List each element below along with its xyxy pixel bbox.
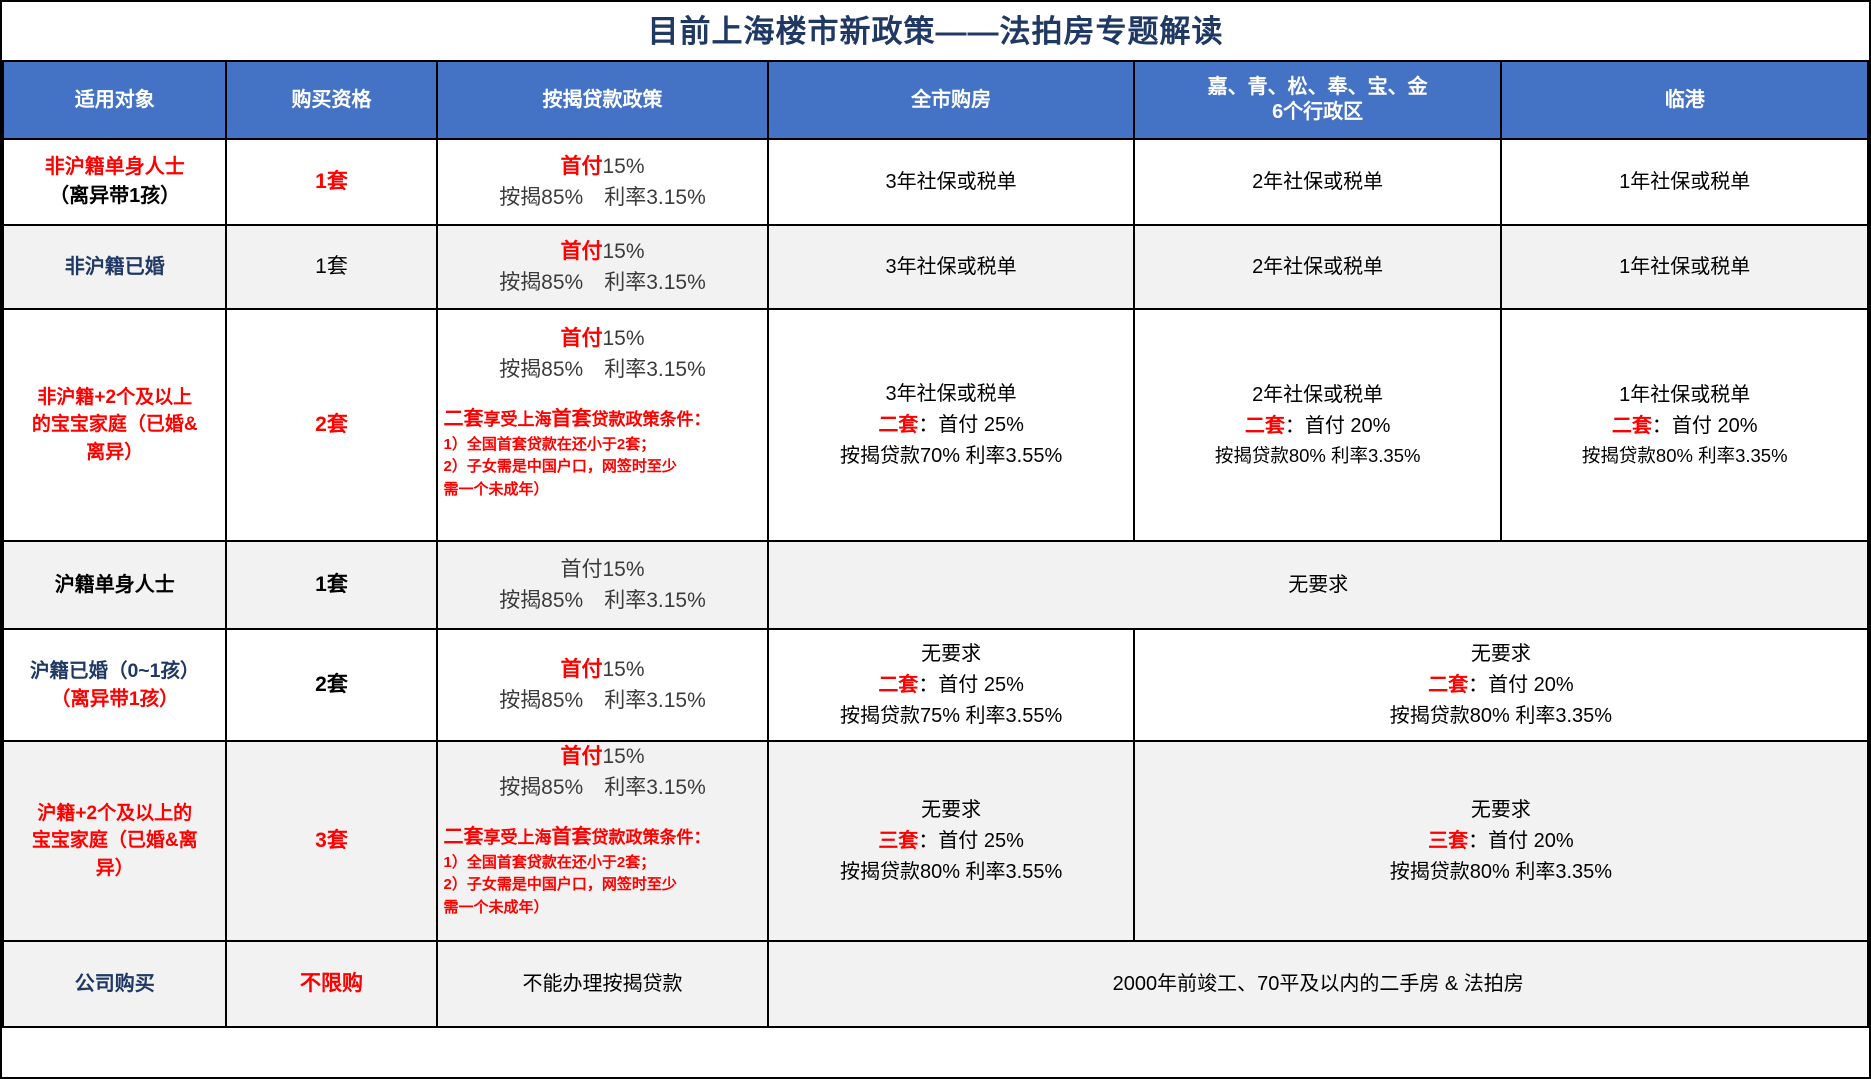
cell-loan: 不能办理按揭贷款: [437, 941, 769, 1027]
object-line3: 异）: [10, 855, 219, 883]
table-row: 非沪籍单身人士 （离异带1孩） 1套 首付15% 按揭85% 利率3.15% 3…: [3, 139, 1868, 225]
lingang-line3: 按揭贷款80% 利率3.35%: [1508, 442, 1861, 471]
citywide-line1: 无要求: [775, 639, 1126, 670]
cell-loan: 首付15% 按揭85% 利率3.15%: [437, 629, 769, 741]
condition-title-a: 二套: [444, 408, 484, 430]
citywide-line1: 3年社保或税单: [775, 252, 1126, 283]
cell-qualification: 3套: [226, 741, 436, 941]
condition-title-c: 首套: [552, 826, 592, 848]
lingang-line1: 1年社保或税单: [1508, 167, 1861, 198]
loan-mortgage: 按揭85% 利率3.15%: [444, 685, 762, 717]
citywide-line2: 二套：首付 25%: [775, 670, 1126, 701]
condition-title-a: 二套: [444, 826, 484, 848]
six-districts-line2: 6个行政区: [1141, 100, 1495, 125]
loan-downpayment: 首付15%: [444, 236, 762, 268]
cell-lingang: 1年社保或税单 二套：首付 20% 按揭贷款80% 利率3.35%: [1501, 309, 1868, 541]
loan-conditions: 二套享受上海首套贷款政策条件： 1）全国首套贷款在还小于2套； 2）子女需是中国…: [444, 404, 762, 502]
condition-title-d: 贷款政策条件：: [592, 410, 711, 429]
qualification-value: 2套: [315, 673, 348, 696]
object-line1: 公司购买: [10, 970, 219, 999]
citywide-line1: 3年社保或税单: [775, 379, 1126, 410]
object-line1: 非沪籍已婚: [10, 253, 219, 282]
cell-citywide: 3年社保或税单: [768, 139, 1133, 225]
cell-citywide: 3年社保或税单: [768, 225, 1133, 309]
cell-qualification: 1套: [226, 541, 436, 629]
qualification-value: 3套: [315, 829, 348, 852]
cell-merged-six-lingang: 无要求 三套：首付 20% 按揭贷款80% 利率3.35%: [1134, 741, 1868, 941]
object-line2: 宝宝家庭（已婚&离: [10, 827, 219, 855]
six-districts-line1: 嘉、青、松、奉、宝、金: [1141, 75, 1495, 100]
cell-qualification: 1套: [226, 139, 436, 225]
loan-mortgage: 按揭85% 利率3.15%: [444, 585, 762, 617]
loan-summary: 首付15% 按揭85% 利率3.15%: [444, 323, 762, 386]
policy-table: 适用对象 购买资格 按揭贷款政策 全市购房 嘉、青、松、奉、宝、金 6个行政区 …: [2, 60, 1869, 1028]
cell-merged-six-lingang: 无要求 二套：首付 20% 按揭贷款80% 利率3.35%: [1134, 629, 1868, 741]
lingang-line2: 二套：首付 20%: [1508, 411, 1861, 442]
downpayment-label: 首付: [560, 240, 602, 263]
citywide-tag-rest: ：首付 25%: [918, 414, 1024, 436]
qualification-value: 不限购: [300, 972, 363, 995]
citywide-tag: 二套: [878, 414, 918, 436]
cell-merged-requirement: 2000年前竣工、70平及以内的二手房 & 法拍房: [768, 941, 1868, 1027]
downpayment-label: 首付: [560, 558, 602, 581]
six-districts-line2: 二套：首付 20%: [1141, 411, 1495, 442]
column-header-lingang: 临港: [1501, 61, 1868, 139]
cell-citywide: 3年社保或税单 二套：首付 25% 按揭贷款70% 利率3.55%: [768, 309, 1133, 541]
object-line1: 非沪籍+2个及以上: [10, 384, 219, 412]
lingang-line1: 1年社保或税单: [1508, 252, 1861, 283]
citywide-line3: 按揭贷款80% 利率3.55%: [775, 857, 1126, 888]
cell-object: 沪籍+2个及以上的 宝宝家庭（已婚&离 异）: [3, 741, 226, 941]
cell-citywide: 无要求 三套：首付 25% 按揭贷款80% 利率3.55%: [768, 741, 1133, 941]
merged-line3: 按揭贷款80% 利率3.35%: [1141, 857, 1861, 888]
merged-line2: 二套：首付 20%: [1141, 670, 1861, 701]
six-districts-tag: 二套: [1245, 415, 1285, 437]
header-row: 适用对象 购买资格 按揭贷款政策 全市购房 嘉、青、松、奉、宝、金 6个行政区 …: [3, 61, 1868, 139]
cell-six-districts: 2年社保或税单 二套：首付 20% 按揭贷款80% 利率3.35%: [1134, 309, 1502, 541]
six-districts-tag-rest: ：首付 20%: [1285, 415, 1391, 437]
downpayment-value: 15%: [602, 155, 644, 178]
cell-lingang: 1年社保或税单: [1501, 225, 1868, 309]
object-line3: 离异）: [10, 439, 219, 467]
cell-object: 非沪籍单身人士 （离异带1孩）: [3, 139, 226, 225]
cell-object: 公司购买: [3, 941, 226, 1027]
cell-object: 沪籍单身人士: [3, 541, 226, 629]
downpayment-value: 15%: [602, 558, 644, 581]
cell-merged-requirement: 无要求: [768, 541, 1868, 629]
qualification-value: 1套: [315, 170, 348, 193]
cell-six-districts: 2年社保或税单: [1134, 139, 1502, 225]
cell-loan: 首付15% 按揭85% 利率3.15% 二套享受上海首套贷款政策条件： 1）全国…: [437, 309, 769, 541]
citywide-line3: 按揭贷款75% 利率3.55%: [775, 701, 1126, 732]
condition-title: 二套享受上海首套贷款政策条件：: [444, 822, 762, 852]
downpayment-label: 首付: [560, 745, 602, 768]
loan-mortgage: 按揭85% 利率3.15%: [444, 772, 762, 804]
cell-qualification: 不限购: [226, 941, 436, 1027]
condition-item-3: 需一个未成年）: [444, 897, 762, 920]
table-row: 沪籍+2个及以上的 宝宝家庭（已婚&离 异） 3套 首付15% 按揭85% 利率…: [3, 741, 1868, 941]
loan-plain-text: 不能办理按揭贷款: [444, 969, 762, 1000]
condition-item-1: 1）全国首套贷款在还小于2套；: [444, 434, 762, 457]
merged-tag-rest: ：首付 20%: [1468, 830, 1574, 852]
downpayment-value: 15%: [602, 240, 644, 263]
merged-line1: 无要求: [1141, 639, 1861, 670]
downpayment-value: 15%: [602, 327, 644, 350]
column-header-citywide: 全市购房: [768, 61, 1133, 139]
cell-citywide: 无要求 二套：首付 25% 按揭贷款75% 利率3.55%: [768, 629, 1133, 741]
merged-text: 2000年前竣工、70平及以内的二手房 & 法拍房: [775, 969, 1861, 1000]
loan-downpayment: 首付15%: [444, 554, 762, 586]
citywide-line2: 二套：首付 25%: [775, 410, 1126, 441]
six-districts-line1: 2年社保或税单: [1141, 252, 1495, 283]
object-line1: 沪籍+2个及以上的: [10, 800, 219, 828]
cell-qualification: 1套: [226, 225, 436, 309]
citywide-line1: 无要求: [775, 795, 1126, 826]
loan-downpayment: 首付15%: [444, 151, 762, 183]
object-line2: （离异带1孩）: [10, 182, 219, 211]
column-header-loan: 按揭贷款政策: [437, 61, 769, 139]
six-districts-line1: 2年社保或税单: [1141, 167, 1495, 198]
column-header-six-districts: 嘉、青、松、奉、宝、金 6个行政区: [1134, 61, 1502, 139]
condition-title-d: 贷款政策条件：: [592, 828, 711, 847]
cell-object: 非沪籍+2个及以上 的宝宝家庭（已婚& 离异）: [3, 309, 226, 541]
lingang-line1: 1年社保或税单: [1508, 380, 1861, 411]
condition-item-2: 2）子女需是中国户口，网签时至少: [444, 874, 762, 897]
condition-title-b: 享受上海: [484, 410, 552, 429]
cell-object: 沪籍已婚（0~1孩） （离异带1孩）: [3, 629, 226, 741]
condition-item-2: 2）子女需是中国户口，网签时至少: [444, 456, 762, 479]
merged-text: 无要求: [775, 570, 1861, 601]
qualification-value: 2套: [315, 413, 348, 436]
page-title: 目前上海楼市新政策——法拍房专题解读: [648, 16, 1224, 47]
citywide-line1: 3年社保或税单: [775, 167, 1126, 198]
loan-summary: 首付15% 按揭85% 利率3.15%: [444, 741, 762, 804]
citywide-tag: 二套: [878, 674, 918, 696]
object-line1: 沪籍已婚（0~1孩）: [10, 657, 219, 685]
cell-object: 非沪籍已婚: [3, 225, 226, 309]
loan-downpayment: 首付15%: [444, 323, 762, 355]
loan-downpayment: 首付15%: [444, 654, 762, 686]
table-row: 沪籍单身人士 1套 首付15% 按揭85% 利率3.15% 无要求: [3, 541, 1868, 629]
lingang-tag-rest: ：首付 20%: [1652, 415, 1758, 437]
citywide-tag: 三套: [878, 830, 918, 852]
downpayment-label: 首付: [560, 327, 602, 350]
loan-mortgage: 按揭85% 利率3.15%: [444, 267, 762, 299]
downpayment-label: 首付: [560, 155, 602, 178]
cell-qualification: 2套: [226, 309, 436, 541]
table-row: 非沪籍+2个及以上 的宝宝家庭（已婚& 离异） 2套 首付15% 按揭85% 利…: [3, 309, 1868, 541]
merged-tag: 三套: [1428, 830, 1468, 852]
cell-lingang: 1年社保或税单: [1501, 139, 1868, 225]
column-header-object: 适用对象: [3, 61, 226, 139]
merged-line1: 无要求: [1141, 795, 1861, 826]
citywide-tag-rest: ：首付 25%: [918, 830, 1024, 852]
cell-six-districts: 2年社保或税单: [1134, 225, 1502, 309]
policy-table-page: 目前上海楼市新政策——法拍房专题解读 适用对象 购买资格 按揭贷款政策 全市购房…: [0, 0, 1871, 1079]
cell-qualification: 2套: [226, 629, 436, 741]
merged-tag: 二套: [1428, 674, 1468, 696]
loan-mortgage: 按揭85% 利率3.15%: [444, 182, 762, 214]
condition-title-b: 享受上海: [484, 828, 552, 847]
merged-line2: 三套：首付 20%: [1141, 826, 1861, 857]
condition-title: 二套享受上海首套贷款政策条件：: [444, 404, 762, 434]
cell-loan: 首付15% 按揭85% 利率3.15%: [437, 139, 769, 225]
six-districts-line1: 2年社保或税单: [1141, 380, 1495, 411]
six-districts-line3: 按揭贷款80% 利率3.35%: [1141, 442, 1495, 471]
table-row: 公司购买 不限购 不能办理按揭贷款 2000年前竣工、70平及以内的二手房 & …: [3, 941, 1868, 1027]
cell-loan: 首付15% 按揭85% 利率3.15% 二套享受上海首套贷款政策条件： 1）全国…: [437, 741, 769, 941]
table-header: 适用对象 购买资格 按揭贷款政策 全市购房 嘉、青、松、奉、宝、金 6个行政区 …: [3, 61, 1868, 139]
object-line1: 沪籍单身人士: [10, 571, 219, 600]
condition-title-c: 首套: [552, 408, 592, 430]
condition-item-3: 需一个未成年）: [444, 479, 762, 502]
merged-tag-rest: ：首付 20%: [1468, 674, 1574, 696]
table-row: 非沪籍已婚 1套 首付15% 按揭85% 利率3.15% 3年社保或税单 2年社…: [3, 225, 1868, 309]
qualification-value: 1套: [315, 255, 348, 278]
loan-mortgage: 按揭85% 利率3.15%: [444, 354, 762, 386]
object-line1: 非沪籍单身人士: [10, 153, 219, 182]
cell-loan: 首付15% 按揭85% 利率3.15%: [437, 541, 769, 629]
citywide-line3: 按揭贷款70% 利率3.55%: [775, 441, 1126, 472]
table-row: 沪籍已婚（0~1孩） （离异带1孩） 2套 首付15% 按揭85% 利率3.15…: [3, 629, 1868, 741]
downpayment-value: 15%: [602, 658, 644, 681]
downpayment-label: 首付: [560, 658, 602, 681]
condition-item-1: 1）全国首套贷款在还小于2套；: [444, 852, 762, 875]
page-title-bar: 目前上海楼市新政策——法拍房专题解读: [2, 2, 1869, 60]
lingang-tag: 二套: [1612, 415, 1652, 437]
table-body: 非沪籍单身人士 （离异带1孩） 1套 首付15% 按揭85% 利率3.15% 3…: [3, 139, 1868, 1027]
downpayment-value: 15%: [602, 745, 644, 768]
cell-loan: 首付15% 按揭85% 利率3.15%: [437, 225, 769, 309]
citywide-line2: 三套：首付 25%: [775, 826, 1126, 857]
object-line2: （离异带1孩）: [10, 685, 219, 713]
merged-line3: 按揭贷款80% 利率3.35%: [1141, 701, 1861, 732]
object-line2: 的宝宝家庭（已婚&: [10, 411, 219, 439]
loan-conditions: 二套享受上海首套贷款政策条件： 1）全国首套贷款在还小于2套； 2）子女需是中国…: [444, 822, 762, 920]
qualification-value: 1套: [315, 573, 348, 596]
loan-downpayment: 首付15%: [444, 741, 762, 773]
citywide-tag-rest: ：首付 25%: [918, 674, 1024, 696]
column-header-qualification: 购买资格: [226, 61, 436, 139]
